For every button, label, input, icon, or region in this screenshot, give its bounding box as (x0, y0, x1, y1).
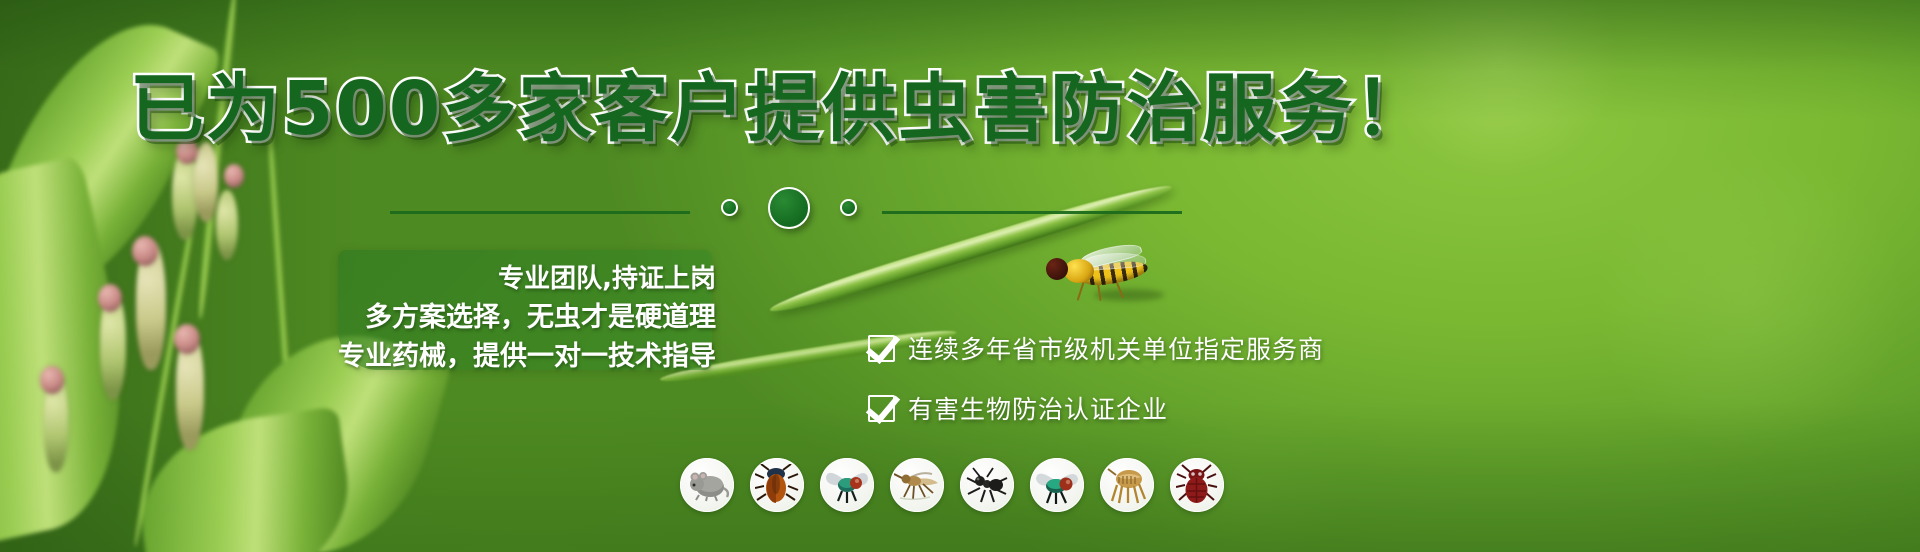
flea-icon: 跳蚤 (1100, 458, 1154, 512)
pest-type-icon-row: 鼠 蟑螂 (680, 458, 1224, 512)
bedbug-icon: 臭虫 (1170, 458, 1224, 512)
housefly-icon: 蝇 (820, 458, 874, 512)
banner-headline: 已为500多家客户提供虫害防治服务！ (0, 72, 1560, 146)
decorative-dot-small-right (840, 199, 857, 216)
checkbox-checked-icon (868, 395, 895, 422)
decorative-dot-small-left (721, 199, 738, 216)
blowfly-icon: 绿头蝇 (1030, 458, 1084, 512)
checkbox-checked-icon (868, 335, 895, 362)
mosquito-icon: 蚊 (890, 458, 944, 512)
bullet-text: 有害生物防治认证企业 (908, 390, 1168, 426)
credential-bullet-list: 连续多年省市级机关单位指定服务商 有害生物防治认证企业 (868, 330, 1488, 450)
feature-text-group: 专业团队,持证上岗 多方案选择，无虫才是硬道理 专业药械，提供一对一技术指导 (330, 258, 730, 373)
mouse-icon: 鼠 (680, 458, 734, 512)
divider-left (390, 211, 690, 214)
ant-icon: 蚂蚁 (960, 458, 1014, 512)
pest-control-hero-banner: 已为500多家客户提供虫害防治服务！ 专业团队,持证上岗 多方案选择，无虫才是硬… (0, 0, 1920, 552)
divider-right (882, 211, 1182, 214)
feature-line-2: 多方案选择，无虫才是硬道理 (365, 295, 716, 334)
bullet-item: 连续多年省市级机关单位指定服务商 (868, 330, 1488, 366)
bullet-item: 有害生物防治认证企业 (868, 390, 1488, 426)
bullet-text: 连续多年省市级机关单位指定服务商 (908, 330, 1324, 366)
cockroach-icon: 蟑螂 (750, 458, 804, 512)
hoverfly-image (1040, 245, 1160, 305)
decorative-dot-large-center (768, 187, 810, 229)
feature-line-1: 专业团队,持证上岗 (498, 258, 716, 295)
feature-line-3: 专业药械，提供一对一技术指导 (338, 334, 716, 373)
